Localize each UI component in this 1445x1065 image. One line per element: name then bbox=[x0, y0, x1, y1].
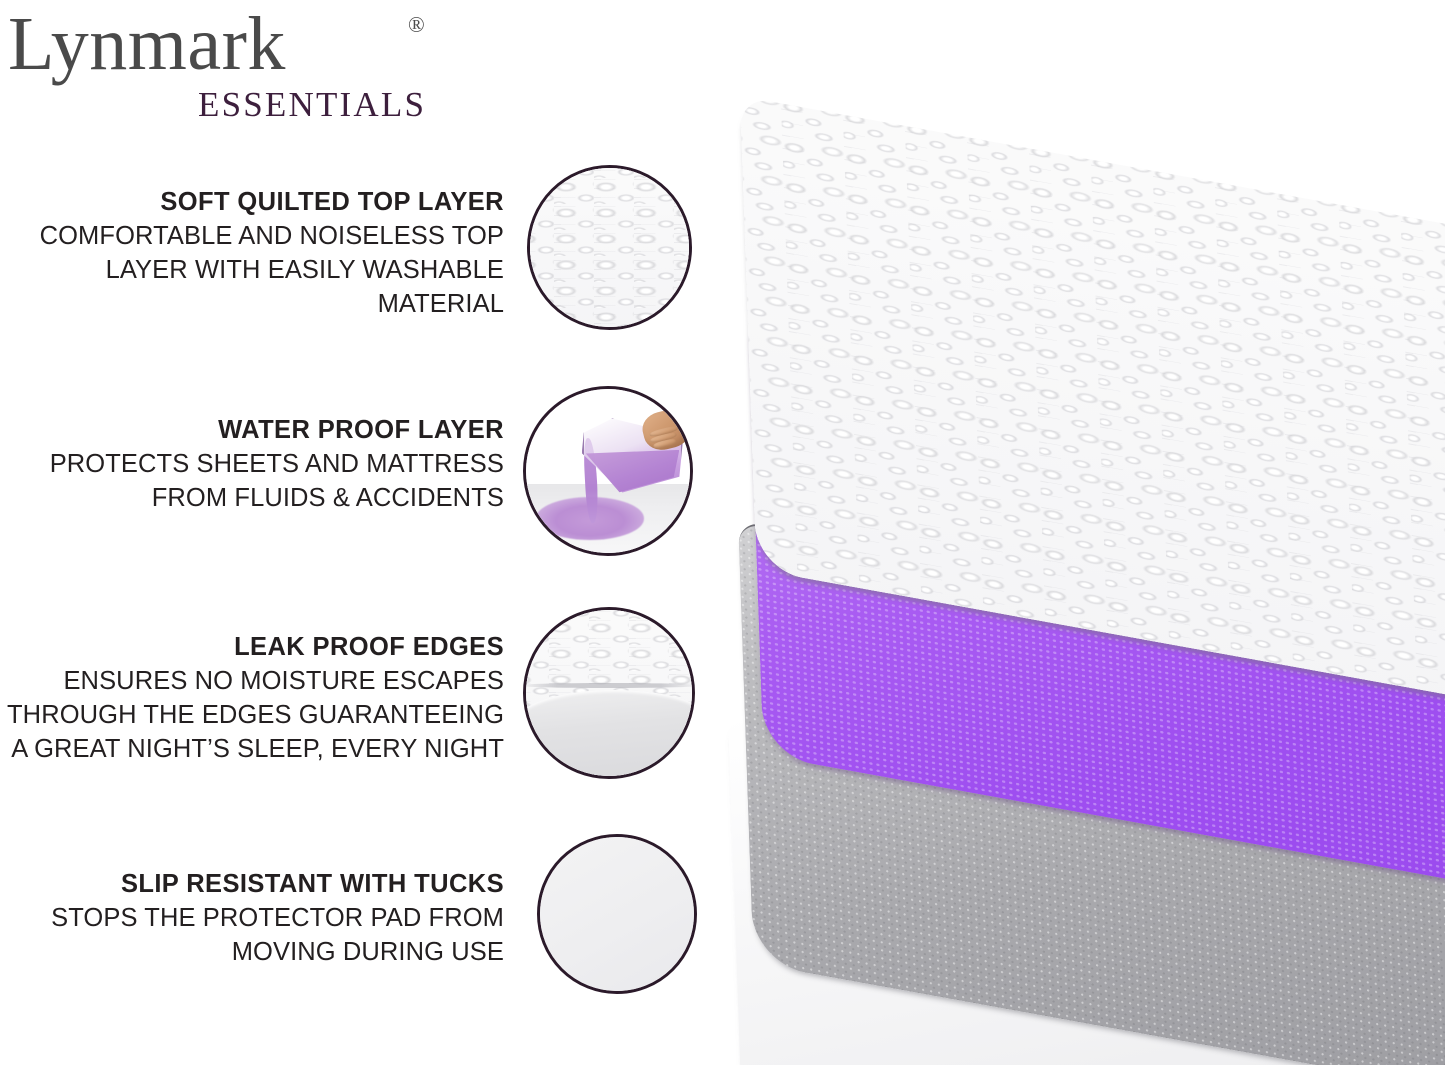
plain-pad-icon bbox=[537, 834, 697, 994]
feature-body: ENSURES NO MOISTURE ESCAPES THROUGH THE … bbox=[4, 664, 504, 766]
feature-body: STOPS THE PROTECTOR PAD FROM MOVING DURI… bbox=[4, 901, 504, 969]
feature-text-block: LEAK PROOF EDGES ENSURES NO MOISTURE ESC… bbox=[4, 630, 504, 766]
feature-text-block: SOFT QUILTED TOP LAYER COMFORTABLE AND N… bbox=[4, 185, 504, 321]
plain-pad-surface bbox=[540, 837, 694, 991]
brand-logo: Lynmark ® ESSENTIALS bbox=[8, 4, 438, 134]
feature-body: PROTECTS SHEETS AND MATTRESS FROM FLUIDS… bbox=[4, 447, 504, 515]
feature-body-line: LAYER WITH EASILY WASHABLE bbox=[4, 253, 504, 287]
feature-leak-proof-edges: LEAK PROOF EDGES ENSURES NO MOISTURE ESC… bbox=[0, 625, 700, 815]
feature-soft-quilted-top-layer: SOFT QUILTED TOP LAYER COMFORTABLE AND N… bbox=[0, 180, 700, 360]
feature-body-line: COMFORTABLE AND NOISELESS TOP bbox=[4, 219, 504, 253]
feature-title: WATER PROOF LAYER bbox=[4, 413, 504, 447]
registered-trademark-icon: ® bbox=[408, 12, 425, 38]
feature-body-line: THROUGH THE EDGES GUARANTEEING bbox=[4, 698, 504, 732]
skirt-shadow-line bbox=[523, 683, 695, 688]
quilted-fabric-icon bbox=[527, 165, 692, 330]
feature-body-line: STOPS THE PROTECTOR PAD FROM bbox=[4, 901, 504, 935]
glass-pitcher bbox=[582, 417, 684, 496]
mattress-skirt bbox=[523, 690, 695, 779]
feature-title: SLIP RESISTANT WITH TUCKS bbox=[4, 867, 504, 901]
pitcher-liquid bbox=[586, 450, 680, 494]
brand-subtitle: ESSENTIALS bbox=[198, 86, 426, 124]
feature-title: LEAK PROOF EDGES bbox=[4, 630, 504, 664]
feature-body-line: A GREAT NIGHT’S SLEEP, EVERY NIGHT bbox=[4, 732, 504, 766]
feature-slip-resistant-with-tucks: SLIP RESISTANT WITH TUCKS STOPS THE PROT… bbox=[0, 862, 700, 1032]
feature-body-line: FROM FLUIDS & ACCIDENTS bbox=[4, 481, 504, 515]
feature-text-block: WATER PROOF LAYER PROTECTS SHEETS AND MA… bbox=[4, 413, 504, 515]
product-infographic: Lynmark ® ESSENTIALS SOFT QUILTED TOP LA… bbox=[0, 0, 1445, 1065]
pouring-liquid-icon bbox=[523, 386, 693, 556]
feature-body-line: ENSURES NO MOISTURE ESCAPES bbox=[4, 664, 504, 698]
feature-body-line: PROTECTS SHEETS AND MATTRESS bbox=[4, 447, 504, 481]
feature-text-block: SLIP RESISTANT WITH TUCKS STOPS THE PROT… bbox=[4, 867, 504, 969]
feature-water-proof-layer: WATER PROOF LAYER PROTECTS SHEETS AND MA… bbox=[0, 408, 700, 578]
brand-name: Lynmark bbox=[8, 4, 286, 84]
feature-title: SOFT QUILTED TOP LAYER bbox=[4, 185, 504, 219]
feature-body: COMFORTABLE AND NOISELESS TOP LAYER WITH… bbox=[4, 219, 504, 321]
quilt-texture bbox=[527, 165, 692, 330]
feature-body-line: MATERIAL bbox=[4, 287, 504, 321]
pour-scene bbox=[526, 389, 690, 553]
feature-body-line: MOVING DURING USE bbox=[4, 935, 504, 969]
mattress-corner-icon bbox=[523, 607, 695, 779]
product-layer-stack bbox=[700, 0, 1445, 1065]
